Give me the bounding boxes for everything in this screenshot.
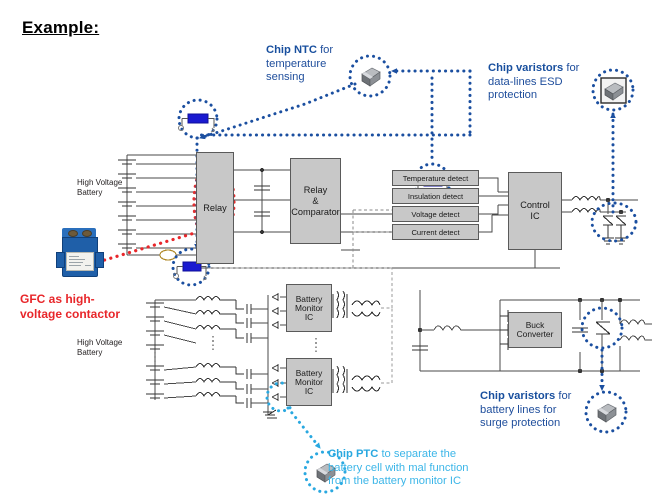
bmic-bottom-l3: IC	[305, 387, 313, 396]
annotation-chip-ntc: Chip NTC for temperature sensing	[266, 44, 386, 85]
relay-comparator-l1: Relay	[304, 185, 328, 196]
buck-converter-block[interactable]: Buck Converter	[508, 312, 562, 348]
insulation-detect-label: Insulation detect	[408, 192, 463, 201]
annotation-ptc-l2: battery cell with mal function	[328, 462, 528, 476]
annotation-varistors-data-l3: protection	[488, 89, 608, 103]
control-ic-l2: IC	[530, 211, 539, 222]
gfc-mount-right	[95, 252, 104, 268]
voltage-detect-block[interactable]: Voltage detect	[392, 206, 479, 222]
control-ic-l1: Control	[520, 200, 550, 211]
annotation-varistors-data-bold: Chip varistors	[488, 62, 563, 74]
annotation-chip-ptc: Chip PTC to separate the battery cell wi…	[328, 448, 528, 489]
gfc-product-label	[66, 252, 94, 271]
control-ic-block[interactable]: Control IC	[508, 172, 562, 250]
gfc-contactor-image	[56, 228, 104, 284]
hv-battery-label-bottom: High Voltage Battery	[77, 338, 129, 357]
annotation-gfc: GFC as high- voltage contactor	[20, 292, 130, 321]
annotation-ptc-bold: Chip PTC	[328, 448, 378, 460]
annotation-gfc-l2: voltage contactor	[20, 307, 130, 322]
buck-l2: Converter	[517, 330, 554, 339]
battery-monitor-ic-top[interactable]: Battery Monitor IC	[286, 284, 332, 332]
relay-comparator-l2: &	[312, 196, 318, 207]
gfc-mount-left	[56, 252, 65, 268]
annotation-varistors-data-rest: for	[563, 62, 579, 74]
current-detect-label: Current detect	[411, 228, 459, 237]
annotation-chip-varistors-data: Chip varistors for data-lines ESD protec…	[488, 62, 608, 103]
annotation-varistors-batt-l3: surge protection	[480, 417, 598, 431]
relay-block[interactable]: Relay	[196, 152, 234, 264]
annotation-chip-varistors-battery: Chip varistors for battery lines for sur…	[480, 390, 598, 431]
current-detect-block[interactable]: Current detect	[392, 224, 479, 240]
insulation-detect-block[interactable]: Insulation detect	[392, 188, 479, 204]
hv-battery-bottom-line2: Battery	[77, 348, 129, 358]
gfc-terminal-right	[82, 230, 92, 237]
hv-battery-label-top: High Voltage Battery	[77, 178, 129, 197]
leader-ptc-down	[288, 408, 320, 448]
voltage-detect-label: Voltage detect	[411, 210, 459, 219]
annotation-varistors-batt-l2: battery lines for	[480, 404, 598, 418]
leader-ntc-to-symbol	[200, 84, 355, 138]
relay-comparator-block[interactable]: Relay & Comparator	[290, 158, 341, 244]
annotation-ptc-rest: to separate the	[378, 448, 456, 460]
annotation-varistors-batt-bold: Chip varistors	[480, 390, 555, 402]
annotation-varistors-data-l2: data-lines ESD	[488, 76, 608, 90]
hv-battery-top-line1: High Voltage	[77, 178, 129, 188]
temperature-detect-label: Temperature detect	[403, 174, 468, 183]
hv-battery-top-line2: Battery	[77, 188, 129, 198]
bmic-top-l3: IC	[305, 313, 313, 322]
battery-monitor-ic-bottom[interactable]: Battery Monitor IC	[286, 358, 332, 406]
chip-photo-surge	[598, 404, 616, 422]
relay-block-label: Relay	[203, 203, 227, 214]
annotation-chip-ntc-rest: for	[317, 44, 333, 56]
relay-comparator-l3: Comparator	[291, 207, 340, 218]
hv-battery-bottom-line1: High Voltage	[77, 338, 129, 348]
annotation-varistors-batt-rest: for	[555, 390, 571, 402]
diagram-canvas: Example:	[0, 0, 660, 502]
gfc-terminal-left	[68, 230, 78, 237]
annotation-chip-ntc-bold: Chip NTC	[266, 44, 317, 56]
temperature-detect-block[interactable]: Temperature detect	[392, 170, 479, 186]
varistor-highlight-control	[592, 203, 636, 241]
annotation-ptc-l3: from the battery monitor IC	[328, 475, 528, 489]
annotation-chip-ntc-l2: temperature	[266, 58, 386, 72]
annotation-chip-ntc-l3: sensing	[266, 71, 386, 85]
annotation-gfc-l1: GFC as high-	[20, 292, 130, 307]
